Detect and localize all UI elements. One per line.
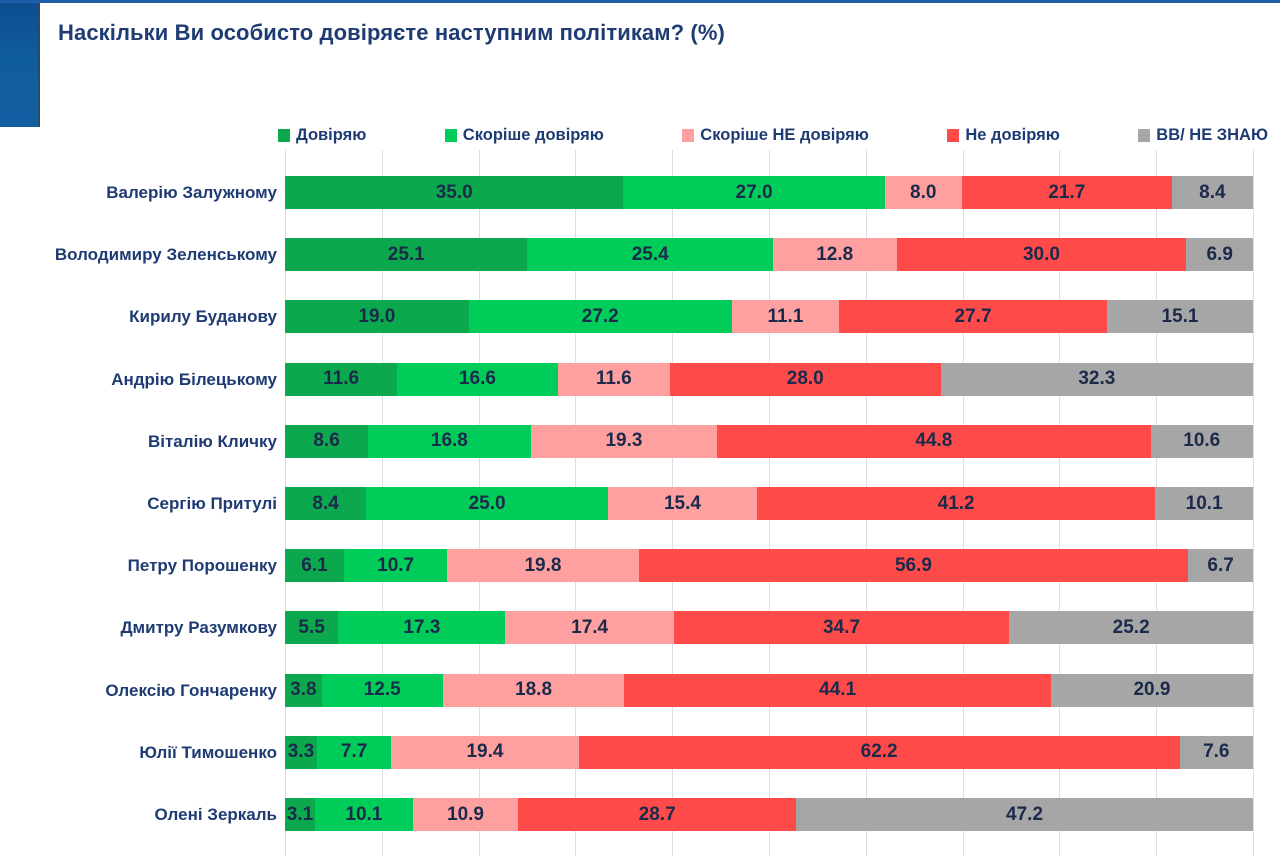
legend-swatch-distrust-icon xyxy=(947,129,959,142)
bar-segment[interactable]: 25.2 xyxy=(1009,611,1253,644)
bar-row: 8.616.819.344.810.6 xyxy=(285,425,1253,458)
bar-row: 11.616.611.628.032.3 xyxy=(285,363,1253,396)
bar-segment[interactable]: 25.0 xyxy=(366,487,608,520)
bar-segment[interactable]: 16.8 xyxy=(368,425,530,458)
bar-segment[interactable]: 21.7 xyxy=(962,176,1172,209)
bar-segment[interactable]: 6.9 xyxy=(1186,238,1253,271)
bar-segment[interactable]: 10.1 xyxy=(315,798,413,831)
gridline-100 xyxy=(1253,150,1254,856)
bar-segment[interactable]: 8.4 xyxy=(285,487,366,520)
legend-label: Скоріше НЕ довіряю xyxy=(700,126,869,145)
bar-row: 19.027.211.127.715.1 xyxy=(285,300,1253,333)
bar-segment[interactable]: 15.1 xyxy=(1107,300,1253,333)
bar-segment[interactable]: 17.3 xyxy=(338,611,505,644)
bar-segment[interactable]: 3.8 xyxy=(285,674,322,707)
bar-segment[interactable]: 27.7 xyxy=(839,300,1107,333)
bar-segment[interactable]: 11.1 xyxy=(732,300,839,333)
slide-accent-bar xyxy=(0,3,40,127)
chart-plot-area: 35.027.08.021.78.425.125.412.830.06.919.… xyxy=(285,150,1253,856)
category-label: Сергію Притулі xyxy=(0,487,277,520)
bar-segment[interactable]: 17.4 xyxy=(505,611,673,644)
category-label: Олексію Гончаренку xyxy=(0,674,277,707)
bar-segment[interactable]: 34.7 xyxy=(674,611,1010,644)
bar-segment[interactable]: 19.3 xyxy=(531,425,718,458)
bar-segment[interactable]: 3.3 xyxy=(285,736,317,769)
bar-row: 3.37.719.462.27.6 xyxy=(285,736,1253,769)
bar-segment[interactable]: 18.8 xyxy=(443,674,625,707)
bar-segment[interactable]: 10.7 xyxy=(344,549,447,582)
bar-row: 35.027.08.021.78.4 xyxy=(285,176,1253,209)
bar-segment[interactable]: 12.8 xyxy=(773,238,897,271)
bar-segment[interactable]: 10.9 xyxy=(413,798,519,831)
bar-segment[interactable]: 10.6 xyxy=(1151,425,1254,458)
legend-item-1[interactable]: Скоріше довіряю xyxy=(445,126,604,145)
bar-segment[interactable]: 3.1 xyxy=(285,798,315,831)
bar-row: 25.125.412.830.06.9 xyxy=(285,238,1253,271)
bar-segment[interactable]: 56.9 xyxy=(639,549,1189,582)
bar-segment[interactable]: 11.6 xyxy=(285,363,397,396)
bar-segment[interactable]: 27.0 xyxy=(623,176,884,209)
category-label: Кирилу Буданову xyxy=(0,300,277,333)
bar-segment[interactable]: 20.9 xyxy=(1051,674,1253,707)
slide-top-rule xyxy=(0,0,1280,3)
bar-segment[interactable]: 19.0 xyxy=(285,300,469,333)
legend-item-3[interactable]: Не довіряю xyxy=(947,126,1060,145)
bar-segment[interactable]: 11.6 xyxy=(558,363,670,396)
category-label: Валерію Залужному xyxy=(0,176,277,209)
category-label: Володимиру Зеленському xyxy=(0,238,277,271)
bar-segment[interactable]: 8.6 xyxy=(285,425,368,458)
bar-segment[interactable]: 8.4 xyxy=(1172,176,1253,209)
legend-label: Не довіряю xyxy=(965,126,1060,145)
bar-segment[interactable]: 47.2 xyxy=(796,798,1253,831)
bar-segment[interactable]: 28.7 xyxy=(518,798,796,831)
category-label: Віталію Кличку xyxy=(0,425,277,458)
legend-item-4[interactable]: ВВ/ НЕ ЗНАЮ xyxy=(1138,126,1268,145)
bar-segment[interactable]: 7.6 xyxy=(1180,736,1253,769)
page-title: Наскільки Ви особисто довіряєте наступни… xyxy=(58,20,1178,46)
bar-segment[interactable]: 16.6 xyxy=(397,363,558,396)
bar-segment[interactable]: 28.0 xyxy=(670,363,941,396)
bar-segment[interactable]: 35.0 xyxy=(285,176,623,209)
bar-row: 8.425.015.441.210.1 xyxy=(285,487,1253,520)
bar-segment[interactable]: 8.0 xyxy=(885,176,962,209)
chart-legend: ДовіряюСкоріше довіряюСкоріше НЕ довіряю… xyxy=(278,122,1268,148)
category-label: Петру Порошенку xyxy=(0,549,277,582)
bar-segment[interactable]: 44.1 xyxy=(624,674,1050,707)
legend-swatch-dontknow-icon xyxy=(1138,129,1150,142)
bar-segment[interactable]: 6.1 xyxy=(285,549,344,582)
bar-segment[interactable]: 32.3 xyxy=(941,363,1253,396)
bar-row: 5.517.317.434.725.2 xyxy=(285,611,1253,644)
legend-swatch-rather-trust-icon xyxy=(445,129,457,142)
bar-segment[interactable]: 5.5 xyxy=(285,611,338,644)
bar-segment[interactable]: 27.2 xyxy=(469,300,732,333)
bar-segment[interactable]: 25.1 xyxy=(285,238,527,271)
bar-segment[interactable]: 30.0 xyxy=(897,238,1187,271)
bar-segment[interactable]: 41.2 xyxy=(757,487,1155,520)
legend-label: ВВ/ НЕ ЗНАЮ xyxy=(1156,126,1268,145)
bar-segment[interactable]: 10.1 xyxy=(1155,487,1253,520)
bar-segment[interactable]: 7.7 xyxy=(317,736,391,769)
legend-swatch-trust-icon xyxy=(278,129,290,142)
bar-segment[interactable]: 19.4 xyxy=(391,736,578,769)
legend-swatch-rather-distrust-icon xyxy=(682,129,694,142)
bar-segment[interactable]: 15.4 xyxy=(608,487,757,520)
bar-row: 3.110.110.928.747.2 xyxy=(285,798,1253,831)
bar-segment[interactable]: 6.7 xyxy=(1188,549,1253,582)
bar-row: 3.812.518.844.120.9 xyxy=(285,674,1253,707)
legend-item-2[interactable]: Скоріше НЕ довіряю xyxy=(682,126,869,145)
bar-segment[interactable]: 44.8 xyxy=(717,425,1150,458)
category-label: Дмитру Разумкову xyxy=(0,611,277,644)
legend-item-0[interactable]: Довіряю xyxy=(278,126,366,145)
bar-row: 6.110.719.856.96.7 xyxy=(285,549,1253,582)
bar-segment[interactable]: 19.8 xyxy=(447,549,638,582)
category-label: Юлії Тимошенко xyxy=(0,736,277,769)
bar-segment[interactable]: 25.4 xyxy=(527,238,772,271)
bar-segment[interactable]: 12.5 xyxy=(322,674,443,707)
legend-label: Довіряю xyxy=(296,126,366,145)
legend-label: Скоріше довіряю xyxy=(463,126,604,145)
bar-segment[interactable]: 62.2 xyxy=(579,736,1180,769)
category-label: Олені Зеркаль xyxy=(0,798,277,831)
category-label: Андрію Білецькому xyxy=(0,363,277,396)
